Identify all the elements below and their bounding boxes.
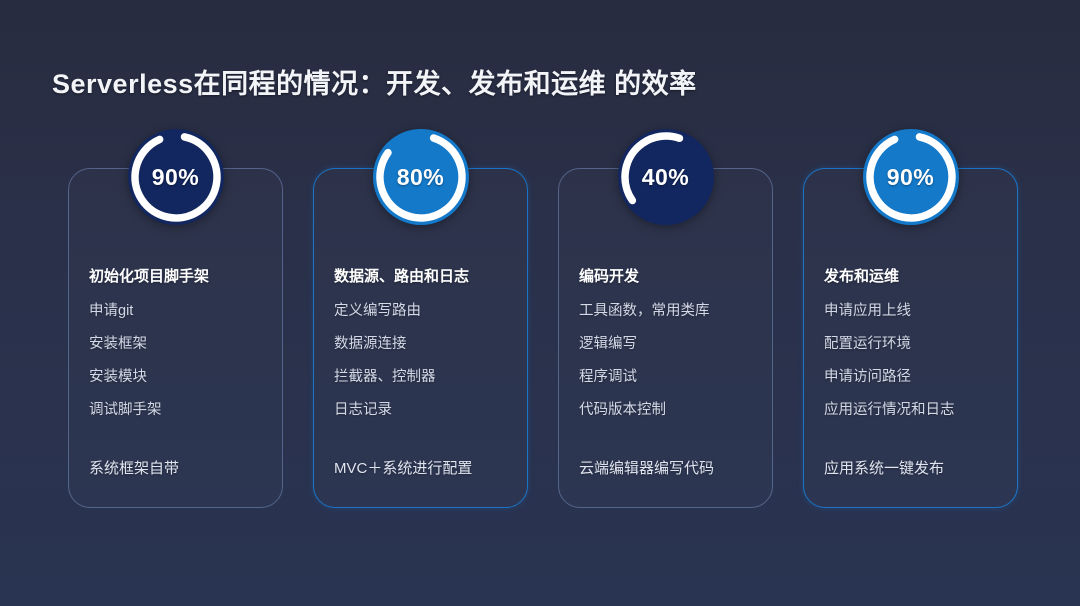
- stage-card-1[interactable]: 90% 初始化项目脚手架 申请git 安装框架 安装模块 调试脚手架 系统框架自…: [68, 168, 283, 508]
- card-body-2: 数据源、路由和日志 定义编写路由 数据源连接 拦截器、控制器 日志记录: [334, 265, 515, 431]
- percent-label-3: 40%: [610, 121, 722, 233]
- list-item: 安装模块: [89, 365, 270, 386]
- card-footer-4: 应用系统一键发布: [824, 457, 1007, 478]
- card-heading-4: 发布和运维: [824, 265, 1005, 286]
- card-body-4: 发布和运维 申请应用上线 配置运行环境 申请访问路径 应用运行情况和日志: [824, 265, 1005, 431]
- list-item: 程序调试: [579, 365, 760, 386]
- percent-label-2: 80%: [365, 121, 477, 233]
- list-item: 申请git: [89, 299, 270, 320]
- card-footer-1: 系统框架自带: [89, 457, 272, 478]
- list-item: 申请访问路径: [824, 365, 1005, 386]
- card-row: 90% 初始化项目脚手架 申请git 安装框架 安装模块 调试脚手架 系统框架自…: [68, 168, 1018, 508]
- list-item: 应用运行情况和日志: [824, 398, 1005, 419]
- list-item: 日志记录: [334, 398, 515, 419]
- card-body-1: 初始化项目脚手架 申请git 安装框架 安装模块 调试脚手架: [89, 265, 270, 431]
- percent-label-4: 90%: [855, 121, 967, 233]
- list-item: 数据源连接: [334, 332, 515, 353]
- list-item: 配置运行环境: [824, 332, 1005, 353]
- progress-donut-2: 80%: [365, 121, 477, 233]
- card-footer-2: MVC＋系统进行配置: [334, 457, 517, 478]
- percent-label-1: 90%: [120, 121, 232, 233]
- stage-card-4[interactable]: 90% 发布和运维 申请应用上线 配置运行环境 申请访问路径 应用运行情况和日志…: [803, 168, 1018, 508]
- list-item: 申请应用上线: [824, 299, 1005, 320]
- card-heading-3: 编码开发: [579, 265, 760, 286]
- list-item: 工具函数，常用类库: [579, 299, 760, 320]
- slide-canvas: Serverless在同程的情况：开发、发布和运维 的效率 90% 初始化项目脚…: [0, 0, 1080, 606]
- list-item: 拦截器、控制器: [334, 365, 515, 386]
- stage-card-3[interactable]: 40% 编码开发 工具函数，常用类库 逻辑编写 程序调试 代码版本控制 云端编辑…: [558, 168, 773, 508]
- card-body-3: 编码开发 工具函数，常用类库 逻辑编写 程序调试 代码版本控制: [579, 265, 760, 431]
- card-heading-2: 数据源、路由和日志: [334, 265, 515, 286]
- progress-donut-1: 90%: [120, 121, 232, 233]
- page-title: Serverless在同程的情况：开发、发布和运维 的效率: [52, 62, 697, 101]
- progress-donut-3: 40%: [610, 121, 722, 233]
- stage-card-2[interactable]: 80% 数据源、路由和日志 定义编写路由 数据源连接 拦截器、控制器 日志记录 …: [313, 168, 528, 508]
- list-item: 安装框架: [89, 332, 270, 353]
- card-heading-1: 初始化项目脚手架: [89, 265, 270, 286]
- list-item: 调试脚手架: [89, 398, 270, 419]
- card-footer-3: 云端编辑器编写代码: [579, 457, 762, 478]
- list-item: 定义编写路由: [334, 299, 515, 320]
- progress-donut-4: 90%: [855, 121, 967, 233]
- list-item: 代码版本控制: [579, 398, 760, 419]
- list-item: 逻辑编写: [579, 332, 760, 353]
